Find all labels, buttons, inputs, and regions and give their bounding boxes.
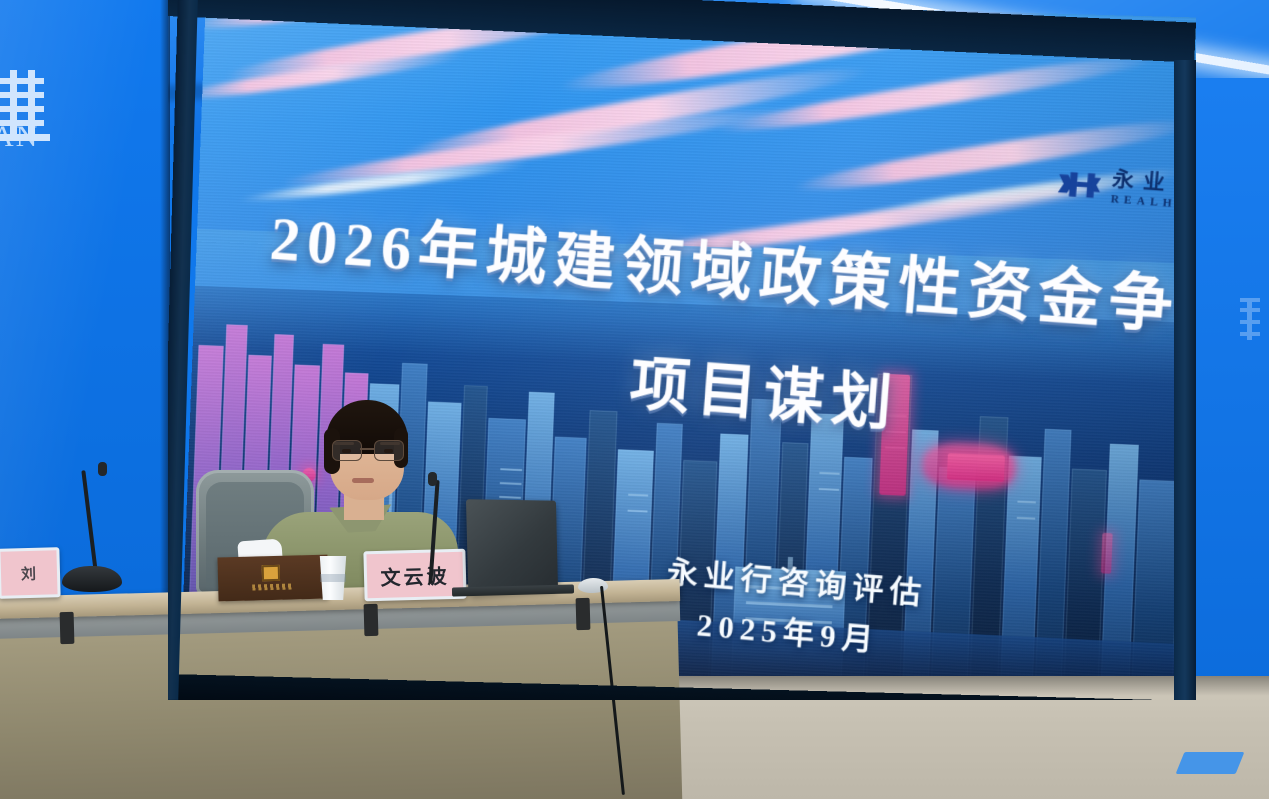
nameplate-speaker-text: 文云波: [380, 560, 450, 591]
yh-monogram-icon: [1055, 168, 1102, 202]
desk-leg-mid: [364, 604, 379, 636]
right-wall-partial-glyph: [1238, 296, 1262, 348]
desk-leg-right: [576, 598, 591, 630]
glasses-icon: [332, 440, 404, 460]
speaker-mouth: [352, 478, 374, 483]
wall-logo-text: AN: [0, 120, 39, 154]
right-wall-panel: [1196, 78, 1269, 698]
floor-reflection: [1176, 752, 1245, 774]
desk-leg-left: [60, 612, 75, 644]
laptop[interactable]: [466, 499, 558, 595]
screen-bezel-right: [1174, 60, 1196, 700]
screenshot-root: AN: [0, 0, 1269, 799]
desk-front-panel: [0, 619, 682, 799]
gift-box-emblem-icon: [262, 565, 280, 581]
slide-title-line-1: 2026年城建领域政策性资金争取与: [268, 188, 1196, 356]
slide-subtitle-date: 2025年9月: [696, 599, 881, 660]
slide-title-line-2: 项目谋划: [627, 335, 902, 443]
gift-box-text: [252, 584, 292, 591]
nameplate-secondary-text: 刘: [21, 562, 38, 583]
gift-box: [217, 555, 328, 602]
paper-cup-band: [320, 574, 346, 582]
nameplate-secondary: 刘: [0, 547, 61, 599]
